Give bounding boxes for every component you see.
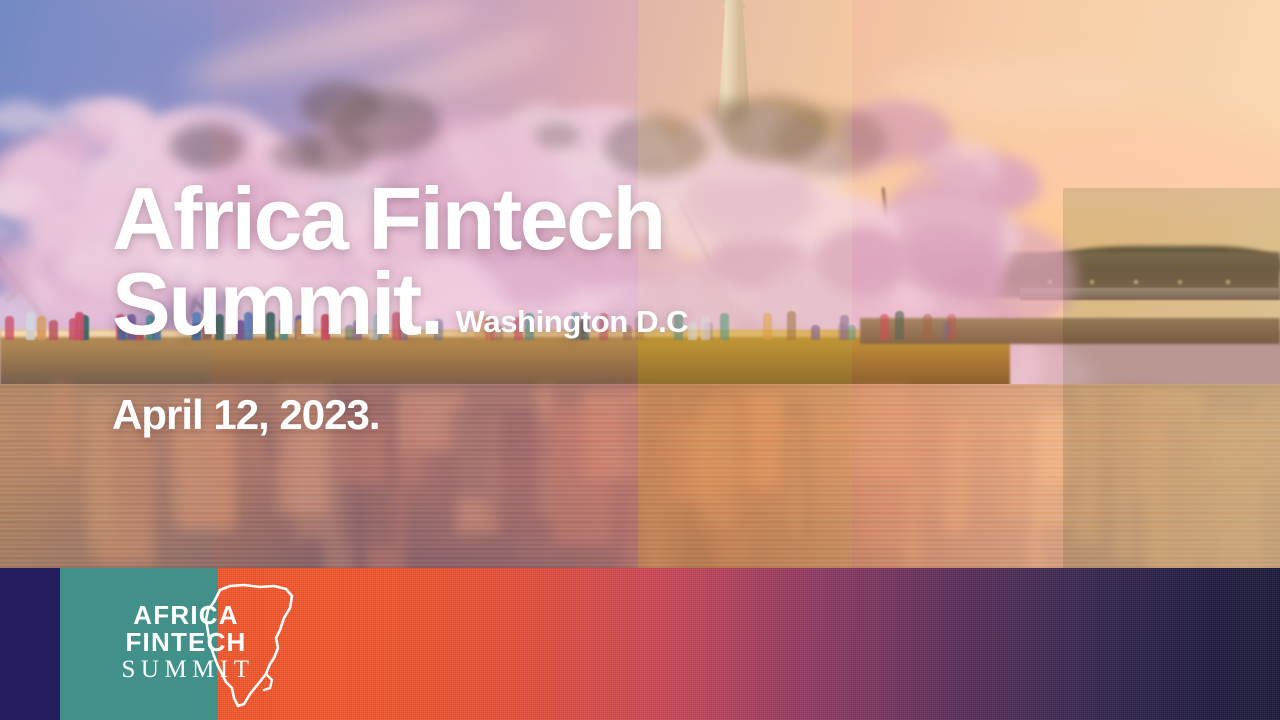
event-date: April 12, 2023.	[112, 391, 380, 439]
logo-line-fintech: FINTECH	[100, 629, 272, 656]
logo-wordmark: AFRICA FINTECH SUMMIT	[100, 602, 272, 685]
footer-noise-texture	[218, 568, 1280, 720]
city-label: Washington D.C	[456, 304, 689, 339]
overlay-band-sage	[1063, 188, 1280, 568]
africa-fintech-summit-logo[interactable]: AFRICA FINTECH SUMMIT	[60, 568, 310, 720]
footer-navy-block	[0, 568, 60, 720]
headline-line-2-wrap: Summit.Washington D.C	[112, 261, 688, 346]
headline-line-1: Africa Fintech	[112, 169, 664, 268]
logo-line-africa: AFRICA	[100, 602, 272, 629]
headline-line-2: Summit.	[112, 254, 442, 353]
footer-bar: AFRICA FINTECH SUMMIT www.africafintechs…	[0, 568, 1280, 720]
hero-photo: Africa Fintech Summit.Washington D.C Apr…	[0, 0, 1280, 568]
logo-line-summit: SUMMIT	[104, 656, 272, 685]
event-poster: Africa Fintech Summit.Washington D.C Apr…	[0, 0, 1280, 720]
page-title: Africa Fintech Summit.Washington D.C	[112, 176, 688, 347]
overlay-band-warm-bottom	[0, 330, 852, 568]
